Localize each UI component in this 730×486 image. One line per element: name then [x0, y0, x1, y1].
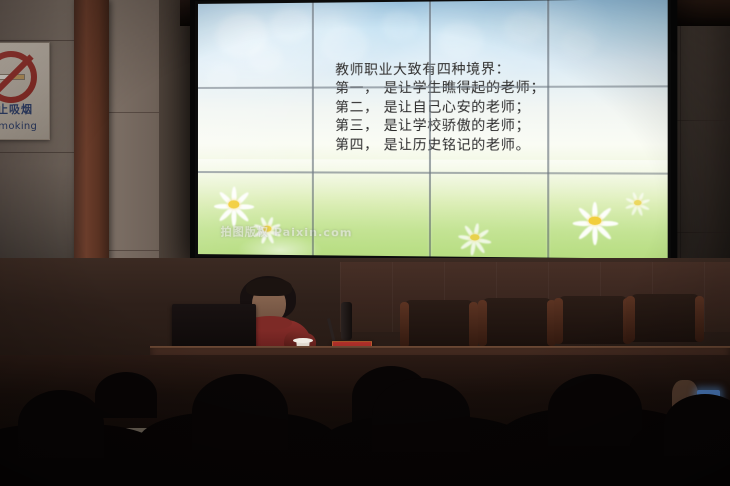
no-smoking-label-zh: 止吸烟 [0, 101, 49, 117]
bokeh-circle [504, 11, 544, 44]
no-smoking-sign: 止吸烟 smoking [0, 42, 50, 140]
conference-chair [404, 300, 474, 348]
wall-tile-seam [109, 112, 159, 113]
wall-tile-seam [0, 152, 74, 153]
screen-bezel: 教师职业大致有四种境界： 第一， 是让学生瞧得起的老师； 第二， 是让自己心安的… [195, 0, 671, 262]
left-wall-panel [109, 0, 159, 300]
wall-tile-seam [0, 40, 74, 41]
wall-tile-seam [680, 0, 681, 300]
watermark-text: 拍图版权 Paixin.com [221, 223, 353, 240]
slide-line-4: 第四， 是让历史铭记的老师。 [335, 136, 658, 155]
no-smoking-icon [0, 51, 37, 103]
lecture-hall-photo: 止吸烟 smoking [0, 0, 730, 486]
presenter-hair-front [246, 278, 292, 296]
conference-chair [630, 294, 700, 342]
slide-text-block: 教师职业大致有四种境界： 第一， 是让学生瞧得起的老师； 第二， 是让自己心安的… [335, 59, 658, 156]
cigarette-icon [0, 74, 25, 80]
audience-head [548, 374, 642, 446]
screen-surface: 教师职业大致有四种境界： 第一， 是让学生瞧得起的老师； 第二， 是让自己心安的… [198, 0, 668, 259]
slide-line-3: 第三， 是让学校骄傲的老师； [335, 117, 658, 136]
daisy-flower [571, 204, 620, 237]
slide-heading: 教师职业大致有四种境界： [335, 59, 658, 80]
paper-cup-rim [293, 338, 313, 343]
daisy-flower [212, 189, 256, 219]
panel-seam-vertical [547, 0, 549, 257]
bokeh-circle [321, 25, 368, 64]
audience-head [95, 372, 157, 418]
slide-line-2: 第二， 是让自己心安的老师； [335, 98, 658, 118]
audience-head [192, 374, 288, 450]
bokeh-circle [382, 9, 419, 40]
audience-head [372, 378, 470, 452]
video-wall-screen: 教师职业大致有四种境界： 第一， 是让学生瞧得起的老师； 第二， 是让自己心安的… [190, 0, 677, 269]
wall-tile-seam [109, 250, 159, 251]
panel-seam-vertical [312, 3, 314, 256]
conference-chair [482, 298, 552, 346]
audience-area [0, 355, 730, 486]
conference-chair [558, 296, 628, 344]
audience-head [664, 394, 730, 456]
bokeh-circle [561, 28, 597, 57]
bokeh-circle [438, 21, 484, 58]
bokeh-circle [207, 64, 237, 90]
panel-seam-vertical [428, 2, 430, 257]
thermos [341, 302, 352, 340]
daisy-flower [624, 193, 652, 212]
daisy-flower [457, 225, 493, 250]
audience-head [18, 390, 104, 458]
no-smoking-label-en: smoking [0, 121, 49, 132]
bokeh-circle [271, 8, 312, 43]
bokeh-circle [248, 43, 282, 71]
prohibition-slash-icon [0, 54, 34, 99]
